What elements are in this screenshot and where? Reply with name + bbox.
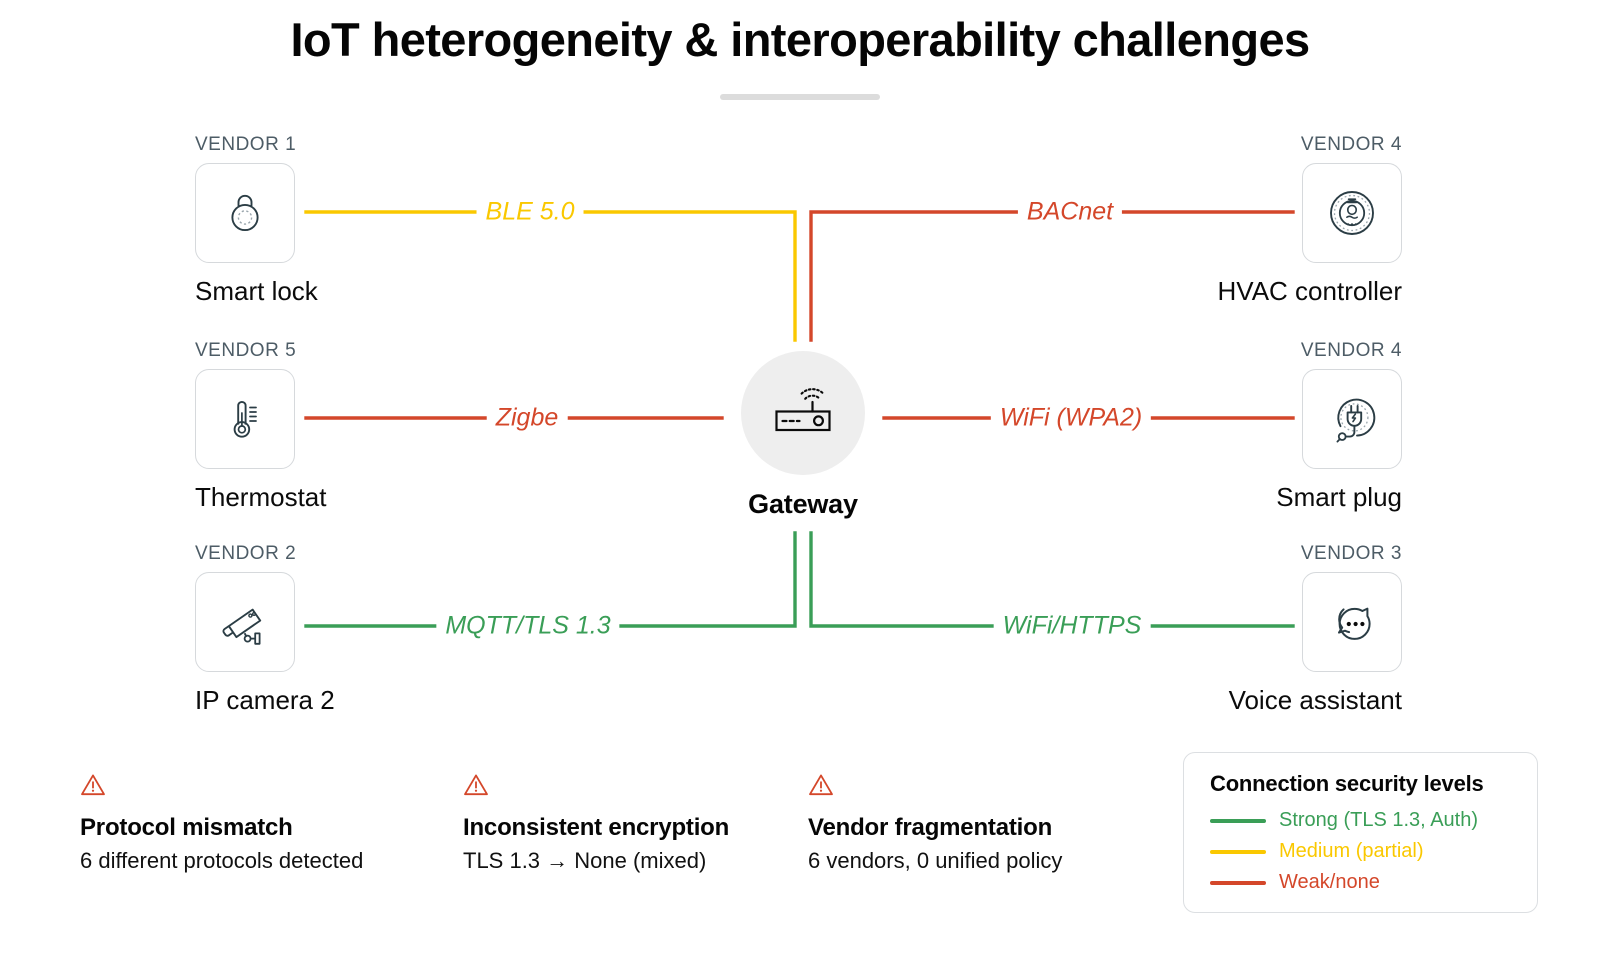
vendor-tag: VENDOR 3	[1162, 543, 1402, 565]
device-card[interactable]	[1302, 369, 1402, 469]
thermometer-icon	[217, 391, 273, 447]
warning-triangle-icon	[80, 772, 460, 803]
padlock-icon	[217, 185, 273, 241]
power-plug-icon	[1323, 390, 1381, 448]
protocol-label-ble: BLE 5.0	[477, 198, 584, 227]
protocol-label-mqtt: MQTT/TLS 1.3	[436, 612, 619, 641]
cctv-camera-icon	[216, 593, 274, 651]
device-label: HVAC controller	[1162, 276, 1402, 307]
device-label: Thermostat	[195, 482, 435, 513]
issue-title: Vendor fragmentation	[808, 814, 1188, 842]
device-label: Smart plug	[1162, 482, 1402, 513]
legend-label: Strong (TLS 1.3, Auth)	[1279, 809, 1478, 832]
device-label: Voice assistant	[1162, 685, 1402, 716]
router-icon	[768, 380, 838, 447]
legend-panel: Connection security levels Strong (TLS 1…	[1183, 752, 1538, 913]
issue-vendor-fragmentation: Vendor fragmentation 6 vendors, 0 unifie…	[808, 772, 1188, 874]
warning-triangle-icon	[808, 772, 1188, 803]
device-node-voice-assistant[interactable]: VENDOR 3 Voice assistant	[1162, 543, 1402, 716]
vendor-tag: VENDOR 1	[195, 134, 435, 156]
protocol-label-wifi-wpa2: WiFi (WPA2)	[991, 404, 1151, 433]
legend-item-strong: Strong (TLS 1.3, Auth)	[1210, 809, 1515, 832]
device-card[interactable]	[195, 163, 295, 263]
legend-label: Weak/none	[1279, 871, 1380, 894]
vendor-tag: VENDOR 5	[195, 340, 435, 362]
issue-detail: TLS 1.3 → None (mixed)	[463, 848, 843, 874]
vendor-tag: VENDOR 4	[1162, 134, 1402, 156]
device-node-ip-camera-2[interactable]: VENDOR 2 IP camera 2	[195, 543, 435, 716]
vendor-tag: VENDOR 4	[1162, 340, 1402, 362]
speech-bubbles-icon	[1323, 593, 1381, 651]
gateway-node[interactable]: Gateway	[673, 351, 933, 520]
device-card[interactable]	[1302, 572, 1402, 672]
device-card[interactable]	[195, 369, 295, 469]
warning-triangle-icon	[463, 772, 843, 803]
device-label: Smart lock	[195, 276, 435, 307]
device-node-smart-lock[interactable]: VENDOR 1 Smart lock	[195, 134, 435, 307]
device-card[interactable]	[1302, 163, 1402, 263]
issue-detail: 6 vendors, 0 unified policy	[808, 848, 1188, 874]
gateway-circle[interactable]	[741, 351, 865, 475]
vendor-tag: VENDOR 2	[195, 543, 435, 565]
device-label: IP camera 2	[195, 685, 435, 716]
thermostat-dial-icon	[1323, 184, 1381, 242]
legend-swatch-medium	[1210, 850, 1266, 854]
issue-inconsistent-encryption: Inconsistent encryption TLS 1.3 → None (…	[463, 772, 843, 874]
gateway-label: Gateway	[673, 489, 933, 520]
legend-label: Medium (partial)	[1279, 840, 1423, 863]
protocol-label-wifi-https: WiFi/HTTPS	[994, 612, 1151, 641]
issue-title: Inconsistent encryption	[463, 814, 843, 842]
protocol-label-zigbe: Zigbe	[487, 404, 568, 433]
protocol-label-bacnet: BACnet	[1018, 198, 1122, 227]
legend-item-medium: Medium (partial)	[1210, 840, 1515, 863]
legend-item-weak: Weak/none	[1210, 871, 1515, 894]
device-card[interactable]	[195, 572, 295, 672]
device-node-hvac-controller[interactable]: VENDOR 4 HVAC controller	[1162, 134, 1402, 307]
device-node-thermostat[interactable]: VENDOR 5 Thermostat	[195, 340, 435, 513]
issue-protocol-mismatch: Protocol mismatch 6 different protocols …	[80, 772, 460, 874]
legend-swatch-weak	[1210, 881, 1266, 885]
legend-swatch-strong	[1210, 819, 1266, 823]
issue-detail: 6 different protocols detected	[80, 848, 460, 874]
issue-title: Protocol mismatch	[80, 814, 460, 842]
device-node-smart-plug[interactable]: VENDOR 4 Smart plug	[1162, 340, 1402, 513]
legend-title: Connection security levels	[1210, 771, 1515, 797]
